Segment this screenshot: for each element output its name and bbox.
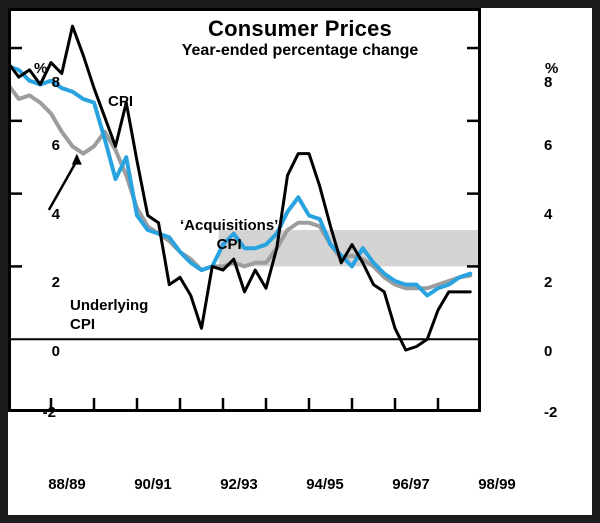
x-tick-label-9697: 96/97 xyxy=(376,476,446,493)
x-tick-label-9495: 94/95 xyxy=(290,476,360,493)
annotation-cpi: CPI xyxy=(108,93,133,110)
y-tick-label-right-8: 8 xyxy=(544,74,574,91)
plot-frame-lines xyxy=(8,8,481,412)
y-tick-label-left-n2: -2 xyxy=(30,404,56,421)
annotation-underlying-cpi: Underlying CPI xyxy=(70,296,180,334)
chart-title: Consumer Prices xyxy=(8,16,592,42)
y-tick-label-left-4: 4 xyxy=(34,206,60,223)
y-tick-label-left-0: 0 xyxy=(34,343,60,360)
y-tick-label-right-4: 4 xyxy=(544,206,574,223)
x-tick-label-9293: 92/93 xyxy=(204,476,274,493)
y-tick-label-right-6: 6 xyxy=(544,137,574,154)
annotation-underlying-line2: CPI xyxy=(70,315,180,334)
x-axis-ticks xyxy=(51,398,438,409)
chart-plot-area xyxy=(8,8,481,412)
chart-frame: Consumer Prices Year-ended percentage ch… xyxy=(8,8,592,515)
x-tick-label-9899: 98/99 xyxy=(462,476,532,493)
x-tick-label-9091: 90/91 xyxy=(118,476,188,493)
y-tick-label-right-2: 2 xyxy=(544,274,574,291)
y-tick-label-right-0: 0 xyxy=(544,343,574,360)
y-tick-label-left-2: 2 xyxy=(34,274,60,291)
annotation-acquisitions-line2: CPI xyxy=(180,235,278,254)
y-tick-label-left-6: 6 xyxy=(34,137,60,154)
y-tick-label-left-8: 8 xyxy=(34,74,60,91)
chart-subtitle: Year-ended percentage change xyxy=(8,42,592,60)
x-tick-label-8889: 88/89 xyxy=(32,476,102,493)
annotation-acquisitions-cpi: ‘Acquisitions’ CPI xyxy=(180,216,278,254)
underlying-cpi-arrow xyxy=(49,154,82,210)
annotation-underlying-line1: Underlying xyxy=(70,296,180,315)
y-tick-label-right-n2: -2 xyxy=(544,404,574,421)
annotation-acquisitions-line1: ‘Acquisitions’ xyxy=(180,216,278,235)
